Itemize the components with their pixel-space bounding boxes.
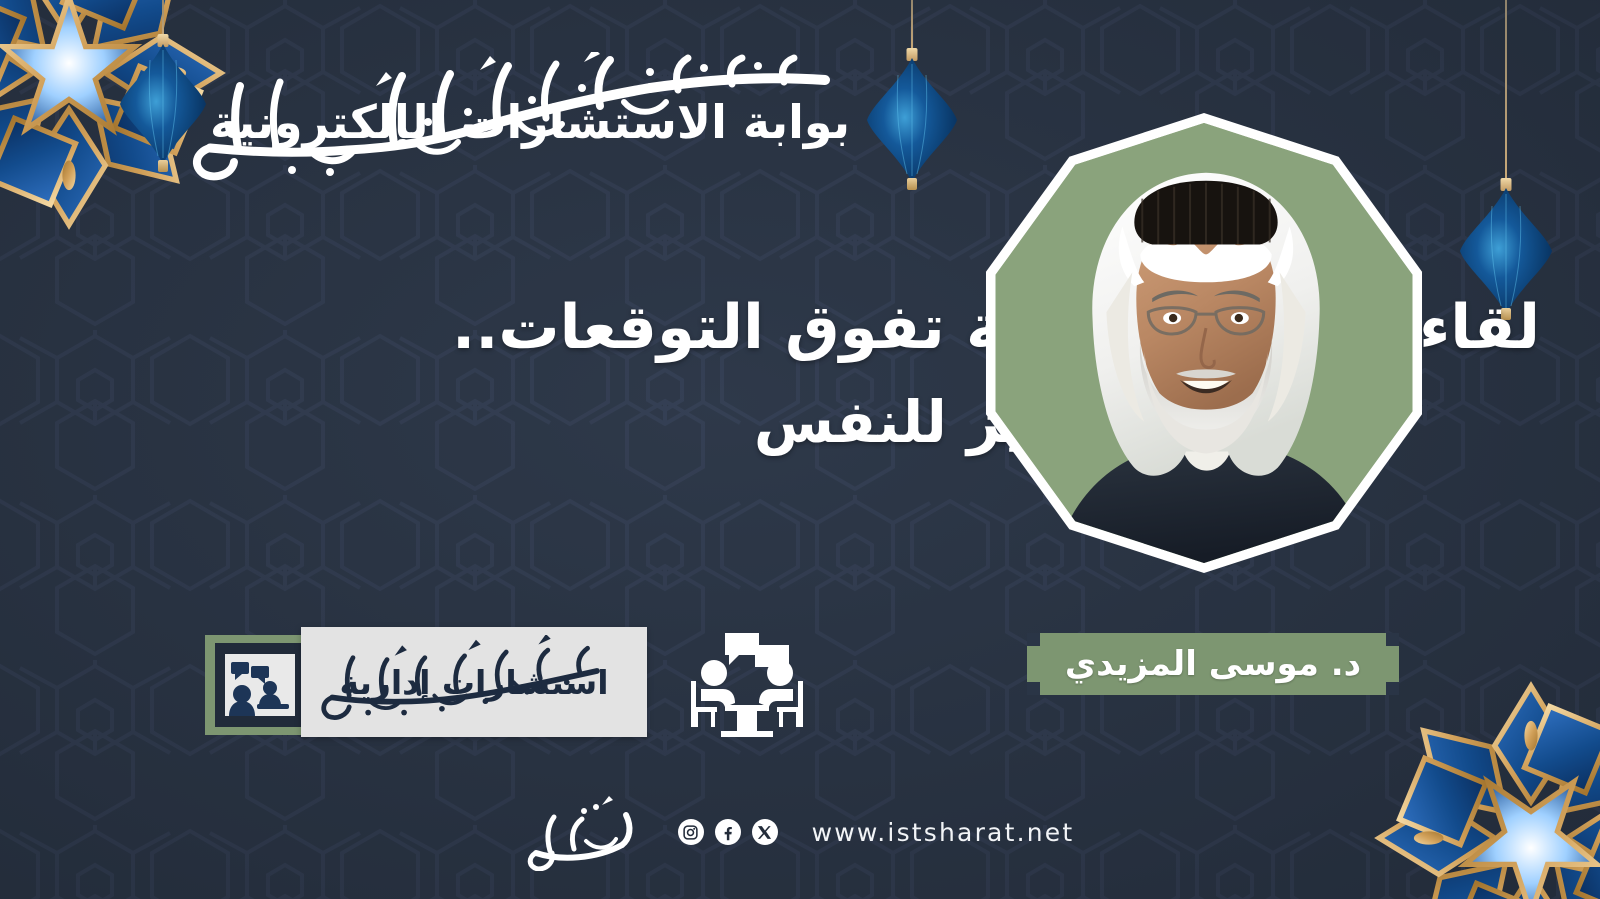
category-tag-label: استشارات إدارية (339, 663, 608, 702)
badge-notch-top-right (1386, 633, 1399, 646)
promo-card: بوابة الاستشارات الإلكترونية لقاء أشخاص … (0, 0, 1600, 899)
publisher-logo (526, 793, 644, 871)
video-consultation-icon (225, 654, 295, 716)
social-links[interactable] (678, 819, 778, 845)
video-consultation-frame (215, 643, 305, 727)
brand-logo: بوابة الاستشارات الإلكترونية (180, 52, 880, 192)
video-consultation-screen (225, 654, 295, 716)
speaker-portrait (975, 113, 1433, 573)
hanging-lantern-right (1458, 0, 1554, 256)
category-tag-row: استشارات إدارية (205, 618, 809, 748)
website-url[interactable]: www.istsharat.net (812, 818, 1075, 847)
meeting-discussion-icon (685, 623, 809, 743)
category-tag-plate: استشارات إدارية (205, 627, 647, 739)
brand-logo-text: بوابة الاستشارات الإلكترونية (180, 52, 880, 192)
footer-bar: www.istsharat.net (0, 793, 1600, 871)
instagram-icon[interactable] (678, 819, 704, 845)
facebook-icon[interactable] (715, 819, 741, 845)
x-twitter-icon[interactable] (752, 819, 778, 845)
badge-notch-bottom-left (1027, 682, 1040, 695)
speaker-name: د. موسى المزيدي (1065, 644, 1361, 684)
category-calligraphy-plate: استشارات إدارية (301, 627, 647, 737)
speaker-name-badge: د. موسى المزيدي (1027, 633, 1399, 695)
